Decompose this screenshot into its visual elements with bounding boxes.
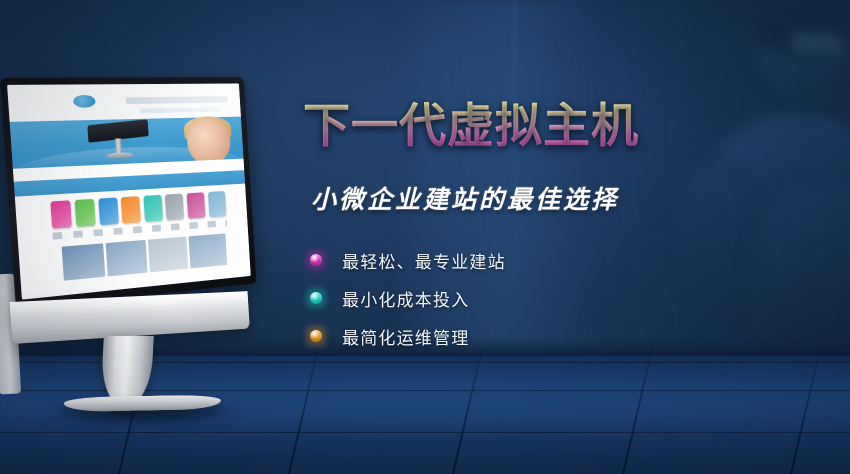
background-vignette	[0, 0, 850, 474]
promo-banner: 下一代虚拟主机 小微企业建站的最佳选择 最轻松、最专业建站 最小化成本投入 最简…	[0, 0, 850, 474]
